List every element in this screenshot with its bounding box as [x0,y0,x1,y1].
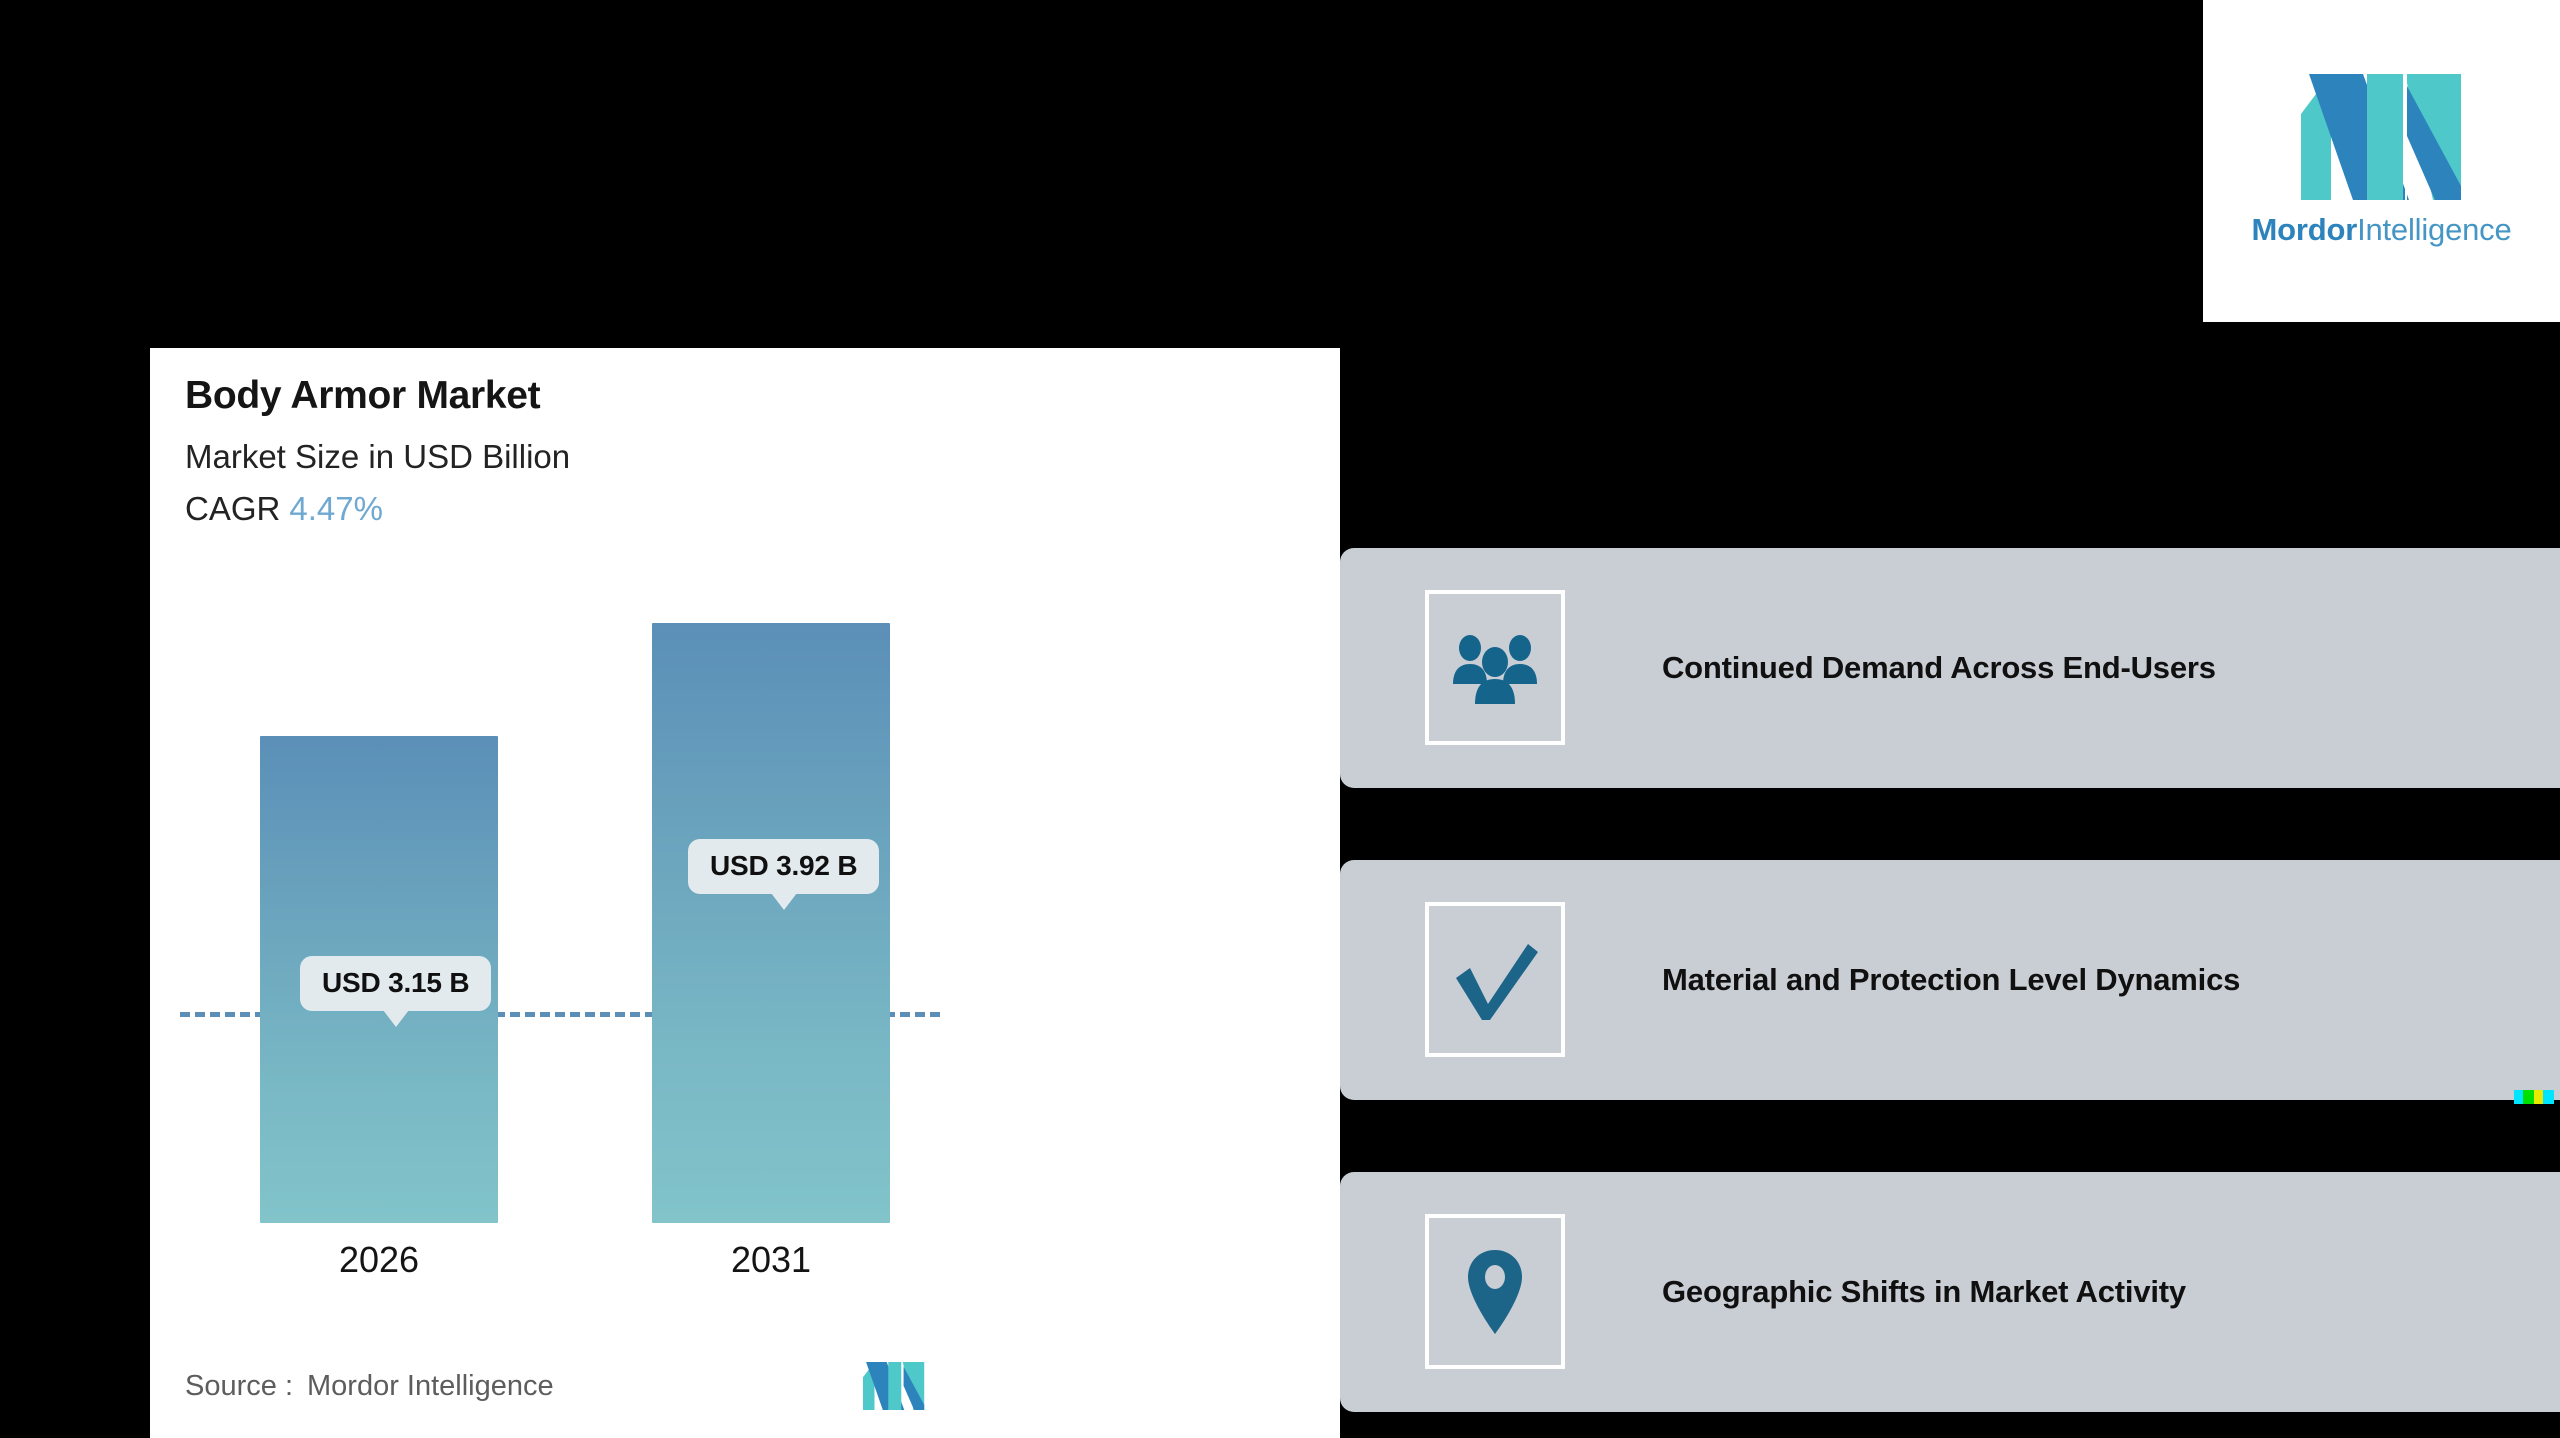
brand-wordmark: MordorIntelligence [2252,212,2512,248]
chart-cagr: CAGR4.47% [185,490,383,528]
source-value: Mordor Intelligence [307,1370,554,1403]
driver-card[interactable]: Geographic Shifts in Market Activity [1340,1172,2560,1412]
chart-subtitle: Market Size in USD Billion [185,438,570,476]
source-label: Source : [185,1370,293,1403]
checkmark-icon [1425,902,1565,1057]
chart-panel: Body Armor Market Market Size in USD Bil… [150,348,1340,1438]
driver-card[interactable]: Continued Demand Across End-Users [1340,548,2560,788]
brand-wordmark-bold: Mordor [2252,212,2358,247]
x-axis-label-2026: 2026 [260,1239,498,1281]
driver-card-label: Continued Demand Across End-Users [1662,548,2216,788]
map-pin-icon [1425,1214,1565,1369]
cagr-value: 4.47% [289,490,383,527]
x-axis-label-2031: 2031 [652,1239,890,1281]
drivers-panel: Continued Demand Across End-Users Materi… [1340,348,2560,1438]
driver-card-label: Material and Protection Level Dynamics [1662,860,2240,1100]
drivers-panel-title-bar [1340,373,2560,443]
mordor-intelligence-logo-icon [2301,74,2463,200]
driver-card[interactable]: Material and Protection Level Dynamics [1340,860,2560,1100]
chart-title: Body Armor Market [185,374,540,418]
brand-wordmark-light: Intelligence [2357,212,2511,247]
brand-logo-panel: MordorIntelligence [2203,0,2560,322]
mordor-intelligence-mark-icon [863,1362,925,1410]
source-row: Source : Mordor Intelligence [185,1362,925,1410]
people-group-icon [1425,590,1565,745]
cagr-label: CAGR [185,490,280,527]
driver-card-label: Geographic Shifts in Market Activity [1662,1172,2186,1412]
bar-2031 [652,623,890,1223]
render-artifact [2514,1090,2554,1104]
bar-chart-plot-area: USD 3.15 B USD 3.92 B 2026 2031 [150,563,1340,1353]
bar-value-label-2026: USD 3.15 B [300,956,491,1011]
bar-value-label-2031: USD 3.92 B [688,839,879,894]
